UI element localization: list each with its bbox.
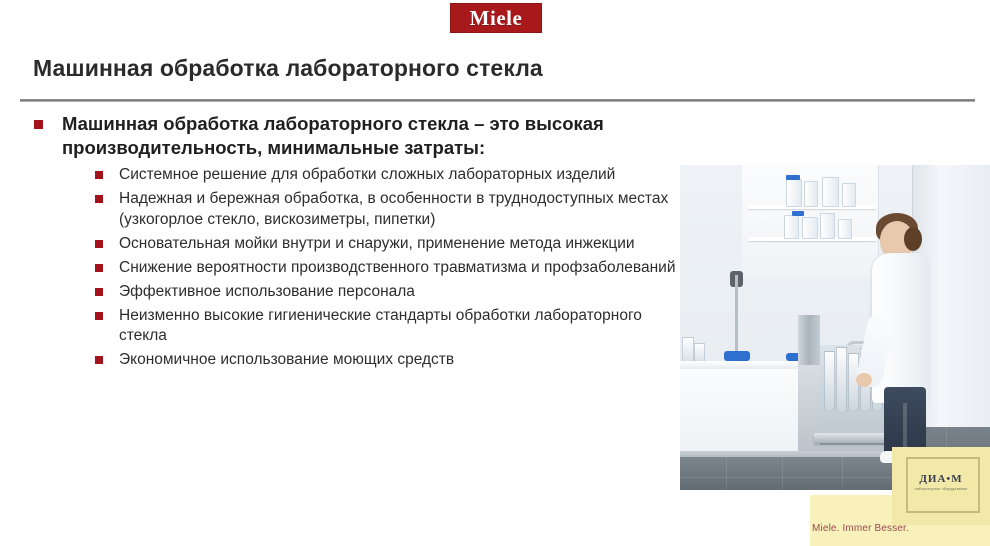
photo-bottle — [842, 183, 856, 207]
list-item-text: Системное решение для обработки сложных … — [119, 165, 689, 185]
bullet-marker-icon — [95, 288, 103, 296]
watermark-subtext: лабораторное оборудование — [892, 487, 990, 491]
photo-bottle — [786, 179, 802, 207]
photo-base-cabinet — [680, 369, 801, 455]
presentation-slide: Miele Машинная обработка лабораторного с… — [0, 0, 990, 546]
photo-person-hair-back — [904, 227, 922, 251]
photo-beaker — [682, 337, 694, 363]
photo-glass-item — [824, 351, 835, 411]
watermark-frame — [906, 457, 980, 513]
bullet-marker-icon — [95, 356, 103, 364]
list-item-text: Экономичное использование моющих средств — [119, 350, 689, 370]
photo-person-hand — [856, 373, 872, 387]
miele-logo-text: Miele — [470, 8, 523, 29]
miele-logo: Miele — [450, 3, 542, 33]
photo-tile-line — [842, 457, 843, 490]
photo-bottle — [838, 219, 852, 239]
watermark-text: ДИА•М — [892, 473, 990, 485]
photo-bottle-cap — [792, 211, 804, 216]
watermark-logo: ДИА•М лабораторное оборудование — [892, 447, 990, 525]
bullet-marker-icon — [34, 120, 43, 129]
photo-bottle — [784, 215, 799, 239]
photo-instrument-base — [724, 351, 750, 361]
photo-bottle — [820, 213, 835, 239]
primary-bullet: Машинная обработка лабораторного стекла … — [0, 112, 682, 159]
list-item-text: Надежная и бережная обработка, в особенн… — [119, 189, 689, 229]
brand-tagline: Miele. Immer Besser. — [812, 523, 909, 534]
photo-tile-line — [782, 457, 783, 490]
list-item-text: Неизменно высокие гигиенические стандарт… — [119, 306, 689, 346]
photo-bottle — [802, 217, 818, 239]
photo-bottle-cap — [786, 175, 800, 180]
list-item-text: Снижение вероятности производственного т… — [119, 258, 689, 278]
photo-beaker — [694, 343, 705, 363]
bullet-marker-icon — [95, 171, 103, 179]
photo-instrument-rod — [735, 275, 738, 363]
photo-tile-line — [726, 457, 727, 490]
title-divider — [20, 99, 975, 102]
bullet-marker-icon — [95, 240, 103, 248]
photo-glass-item — [836, 347, 847, 413]
page-title: Машинная обработка лабораторного стекла — [33, 55, 933, 82]
photo-bottle — [822, 177, 839, 207]
list-item-text: Эффективное использование персонала — [119, 282, 689, 302]
list-item-text: Основательная мойки внутри и снаружи, пр… — [119, 234, 689, 254]
bullet-marker-icon — [95, 195, 103, 203]
bullet-marker-icon — [95, 312, 103, 320]
bullet-content: Машинная обработка лабораторного стекла … — [0, 112, 690, 375]
laboratory-photo — [680, 165, 990, 490]
secondary-bullet-list: Системное решение для обработки сложных … — [0, 165, 690, 370]
photo-bottle — [804, 181, 818, 207]
bullet-marker-icon — [95, 264, 103, 272]
primary-bullet-text: Машинная обработка лабораторного стекла … — [62, 113, 604, 158]
